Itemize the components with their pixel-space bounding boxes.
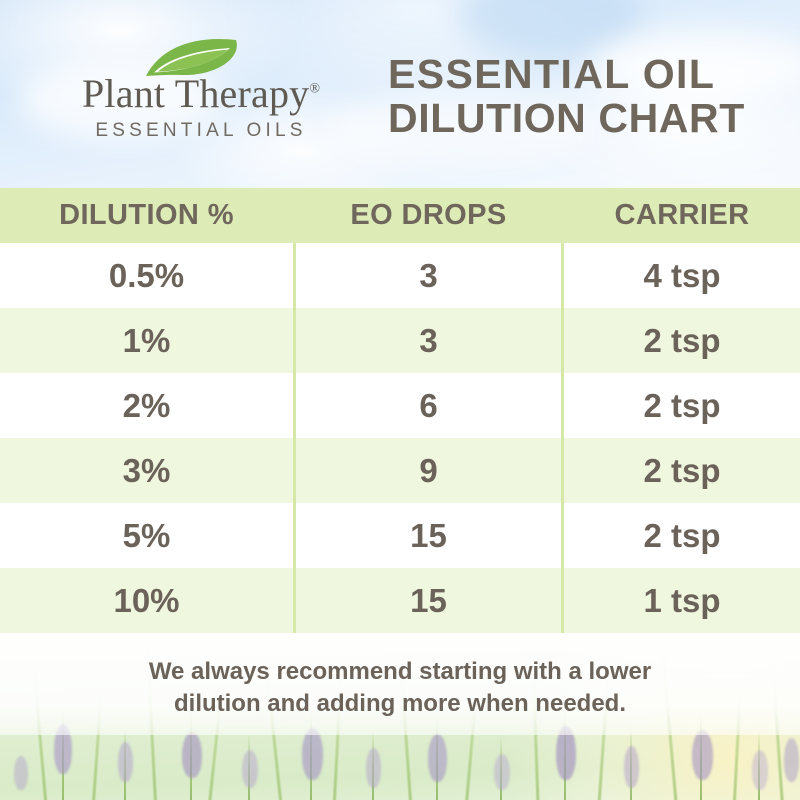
table-row: 2% 6 2 tsp [0, 373, 800, 438]
cell-dilution: 3% [0, 438, 293, 503]
cell-eo-drops: 15 [293, 503, 564, 568]
registered-mark: ® [309, 82, 320, 97]
cell-carrier: 2 tsp [564, 438, 800, 503]
cell-dilution: 0.5% [0, 243, 293, 308]
table-row: 10% 15 1 tsp [0, 568, 800, 633]
cell-carrier: 4 tsp [564, 243, 800, 308]
cell-eo-drops: 9 [293, 438, 564, 503]
column-header-eo-drops: EO DROPS [293, 188, 564, 243]
cell-eo-drops: 3 [293, 243, 564, 308]
brand-logo: Plant Therapy® ESSENTIAL OILS [46, 36, 356, 142]
cell-carrier: 2 tsp [564, 503, 800, 568]
leaf-icon [46, 36, 356, 78]
brand-name: Plant Therapy® [46, 74, 356, 114]
cell-eo-drops: 3 [293, 308, 564, 373]
cell-carrier: 2 tsp [564, 308, 800, 373]
page-title-line1: ESSENTIAL OIL [388, 52, 778, 96]
table-row: 0.5% 3 4 tsp [0, 243, 800, 308]
footer-note-line2: dilution and adding more when needed. [0, 688, 800, 720]
column-header-carrier: CARRIER [564, 188, 800, 243]
dilution-table: DILUTION % EO DROPS CARRIER 0.5% 3 4 tsp… [0, 188, 800, 638]
column-header-dilution: DILUTION % [0, 188, 293, 243]
brand-tagline: ESSENTIAL OILS [46, 120, 356, 142]
dilution-chart-poster: Plant Therapy® ESSENTIAL OILS ESSENTIAL … [0, 0, 800, 800]
table-row: 5% 15 2 tsp [0, 503, 800, 568]
cell-eo-drops: 15 [293, 568, 564, 633]
table-row: 1% 3 2 tsp [0, 308, 800, 373]
cell-dilution: 1% [0, 308, 293, 373]
cell-eo-drops: 6 [293, 373, 564, 438]
cell-carrier: 1 tsp [564, 568, 800, 633]
cell-dilution: 5% [0, 503, 293, 568]
lavender-field-photo: We always recommend starting with a lowe… [0, 638, 800, 800]
footer-note-line1: We always recommend starting with a lowe… [0, 656, 800, 688]
cell-dilution: 10% [0, 568, 293, 633]
table-header-row: DILUTION % EO DROPS CARRIER [0, 188, 800, 243]
cell-dilution: 2% [0, 373, 293, 438]
page-title-line2: DILUTION CHART [388, 96, 778, 140]
page-title: ESSENTIAL OIL DILUTION CHART [388, 52, 778, 140]
footer-note: We always recommend starting with a lowe… [0, 656, 800, 720]
table-row: 3% 9 2 tsp [0, 438, 800, 503]
cell-carrier: 2 tsp [564, 373, 800, 438]
